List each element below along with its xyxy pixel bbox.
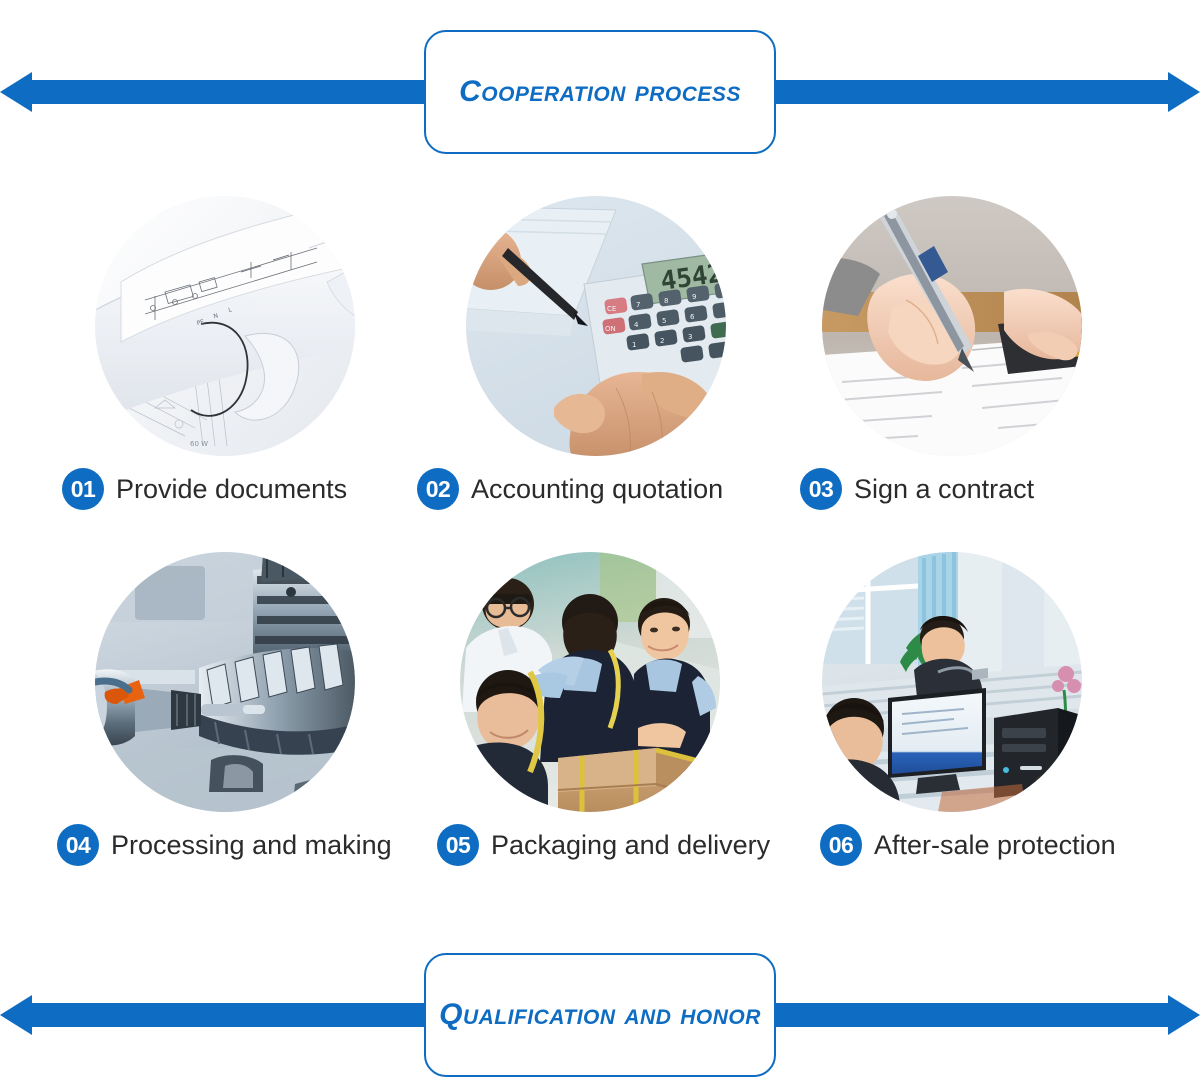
step-number-badge: 04 (57, 824, 99, 866)
step-label: Accounting quotation (471, 474, 723, 505)
step-label: Provide documents (116, 474, 347, 505)
arrow-left-head (0, 72, 32, 112)
step-number-badge: 06 (820, 824, 862, 866)
svg-text:6: 6 (690, 313, 695, 321)
svg-text:3: 3 (688, 333, 692, 341)
step-label: Processing and making (111, 830, 392, 861)
top-banner-title: Cooperation process (459, 75, 741, 109)
svg-text:8: 8 (664, 297, 668, 305)
step-card: 03 Sign a contract (800, 196, 1200, 536)
arrow-right-icon (730, 80, 1200, 104)
arrow-left-shaft (32, 1003, 470, 1027)
hands-using-calculator-photo: 4542 (466, 196, 726, 456)
step-card: 04 Processing and making (0, 552, 400, 892)
svg-text:60 W: 60 W (190, 440, 208, 448)
cooperation-process-infographic: Cooperation process (0, 0, 1200, 1075)
arrow-left-icon (0, 1003, 470, 1027)
workers-packing-carton-photo (460, 552, 720, 812)
arrow-left-shaft (32, 80, 470, 104)
svg-text:ON: ON (605, 325, 616, 333)
step-number-badge: 01 (62, 468, 104, 510)
rolled-blueprints-photo: 60 W (95, 196, 355, 456)
step-caption: 03 Sign a contract (800, 468, 1200, 510)
step-number-badge: 02 (417, 468, 459, 510)
hand-signing-contract-photo (822, 196, 1082, 456)
cnc-machining-cutter-photo (95, 552, 355, 812)
arrow-right-head (1168, 72, 1200, 112)
office-staff-computers-photo (822, 552, 1082, 812)
step-number-badge: 03 (800, 468, 842, 510)
bottom-banner-box: Qualification and honor (424, 953, 776, 1077)
arrow-left-head (0, 995, 32, 1035)
step-caption: 06 After-sale protection (800, 824, 1200, 866)
step-label: Sign a contract (854, 474, 1034, 505)
step-caption: 02 Accounting quotation (400, 468, 800, 510)
step-label: After-sale protection (874, 830, 1116, 861)
arrow-right-shaft (730, 80, 1168, 104)
bottom-banner-title: Qualification and honor (439, 998, 761, 1032)
svg-text:9: 9 (692, 293, 696, 301)
svg-text:7: 7 (636, 301, 640, 309)
top-banner: Cooperation process (0, 22, 1200, 162)
step-label: Packaging and delivery (491, 830, 770, 861)
steps-grid: 60 W (0, 196, 1200, 892)
step-card: 60 W (0, 196, 400, 536)
top-banner-box: Cooperation process (424, 30, 776, 154)
step-number-badge: 05 (437, 824, 479, 866)
svg-text:5: 5 (662, 317, 666, 325)
step-card: 06 After-sale protection (800, 552, 1200, 892)
svg-text:2: 2 (660, 337, 664, 345)
step-card: 4542 (400, 196, 800, 536)
step-caption: 05 Packaging and delivery (400, 824, 800, 866)
step-caption: 04 Processing and making (0, 824, 400, 866)
step-card: 05 Packaging and delivery (400, 552, 800, 892)
arrow-right-head (1168, 995, 1200, 1035)
arrow-left-icon (0, 80, 470, 104)
svg-text:CE: CE (607, 305, 616, 313)
svg-text:4: 4 (634, 321, 639, 329)
arrow-right-shaft (730, 1003, 1168, 1027)
step-caption: 01 Provide documents (0, 468, 400, 510)
svg-text:1: 1 (632, 341, 636, 349)
arrow-right-icon (730, 1003, 1200, 1027)
bottom-banner: Qualification and honor (0, 945, 1200, 1085)
